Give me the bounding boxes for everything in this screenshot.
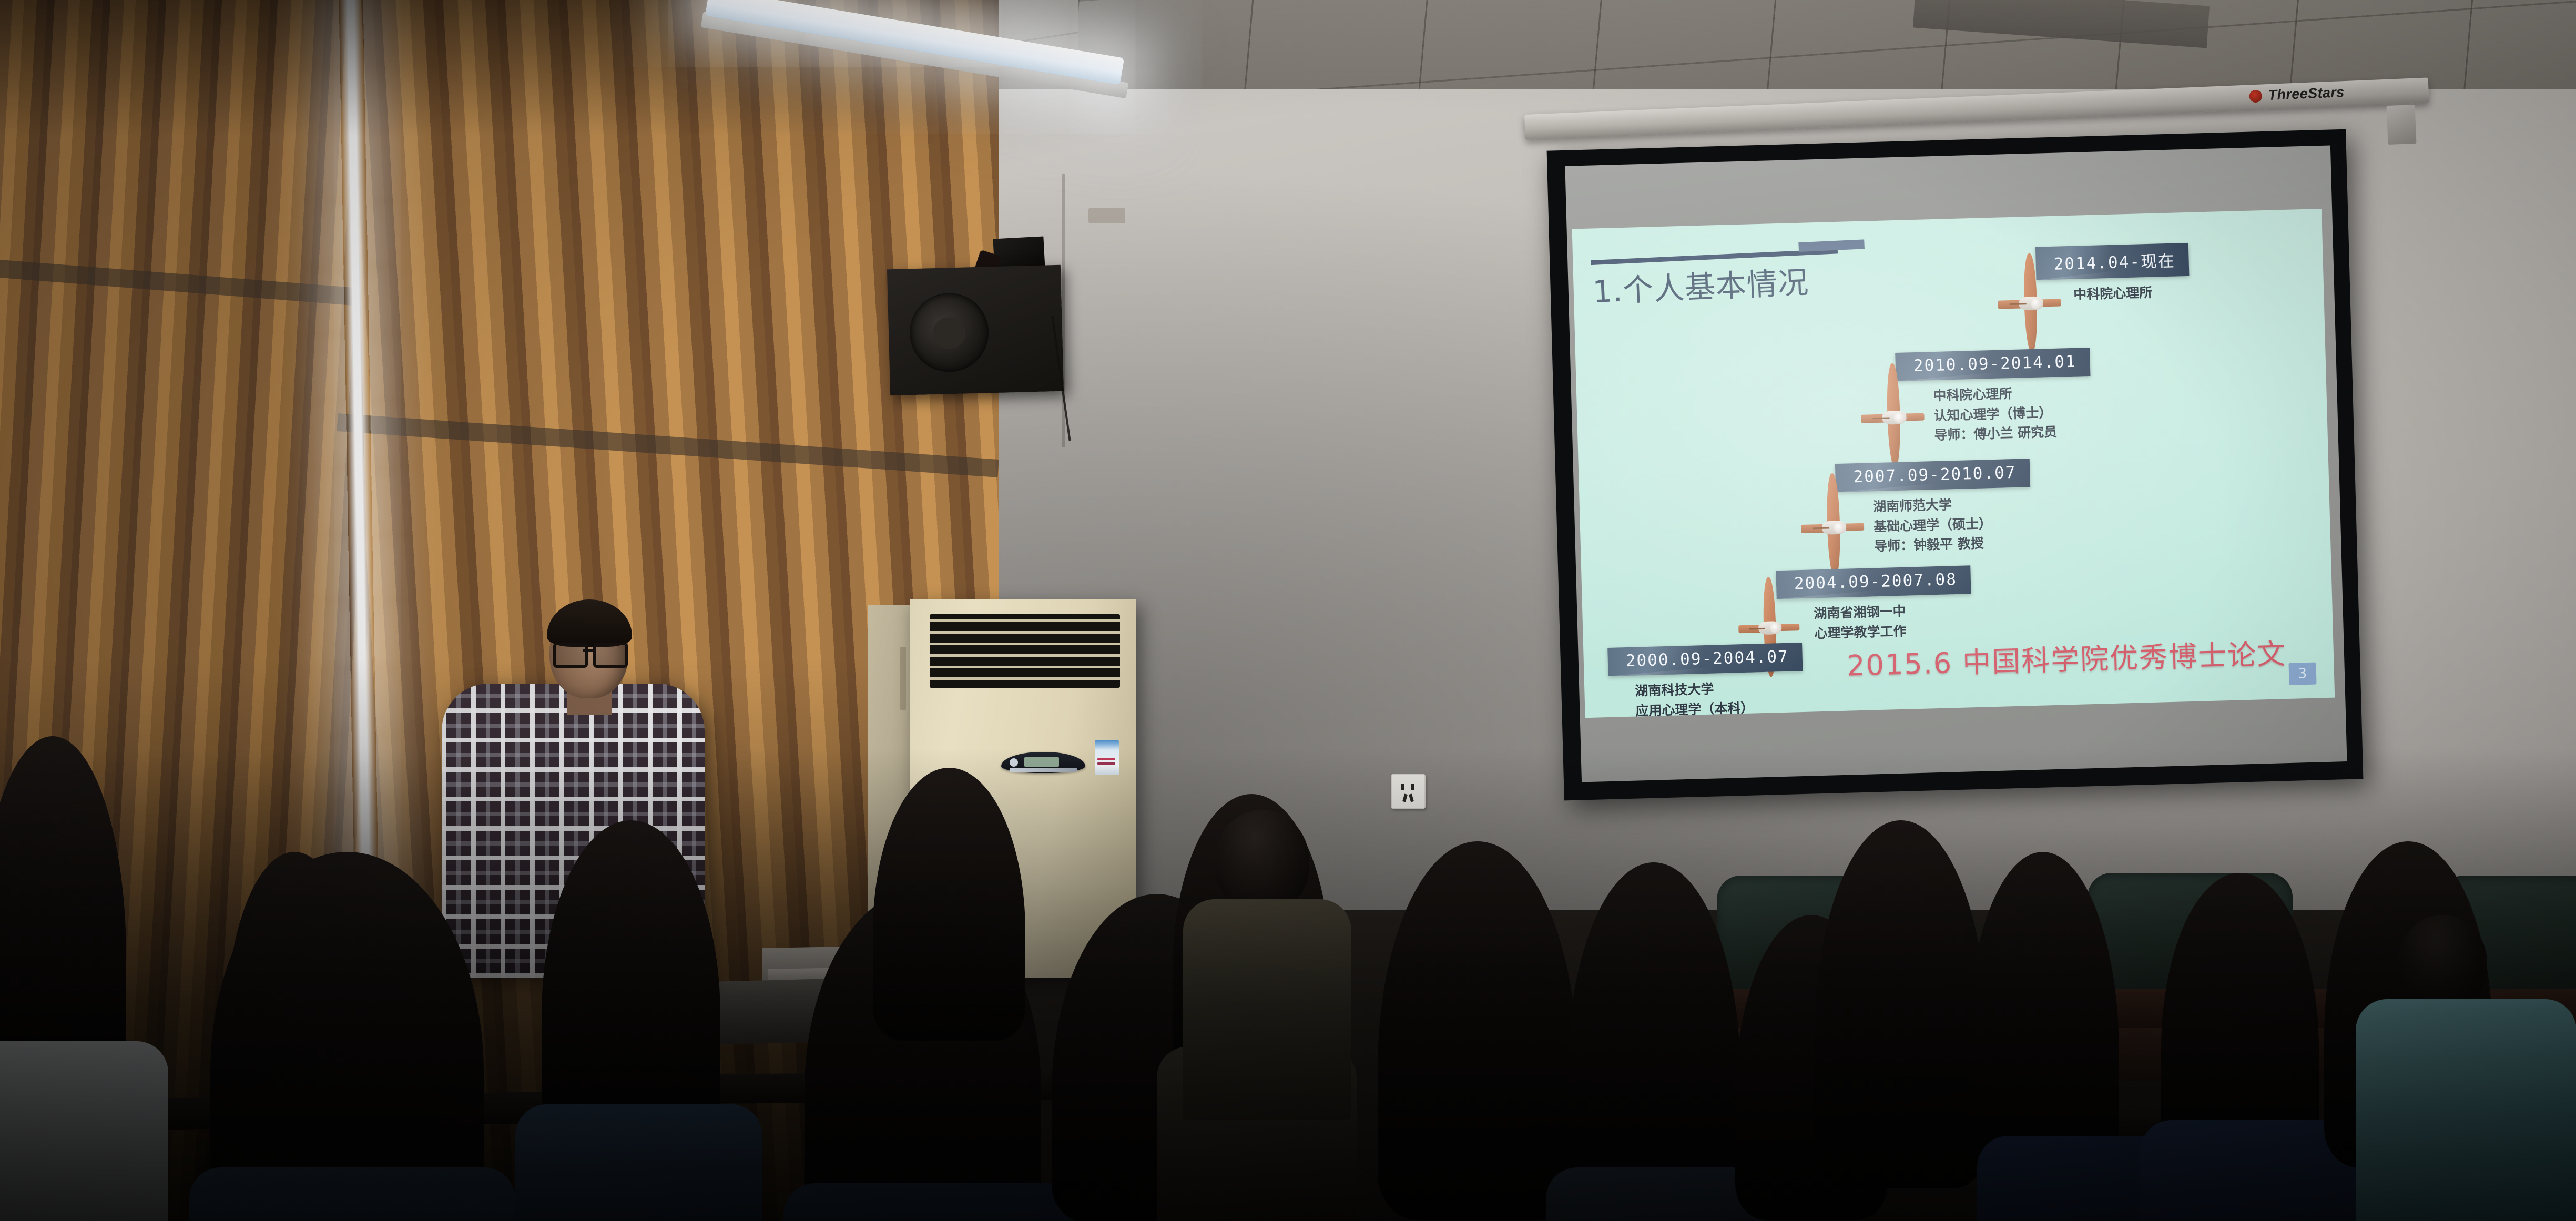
timeline-period: 2010.09-2014.01: [1895, 348, 2090, 381]
wall-socket-icon: [1391, 774, 1426, 809]
slide-page-number: 3: [2288, 663, 2316, 685]
audience-dark-top: [1546, 1167, 1767, 1221]
audience-olive-jacket: [1183, 899, 1351, 1120]
wall-patch: [1088, 208, 1125, 223]
projection-screen: 1.个人基本情况 2014.04-现在 中科院心理所: [1547, 129, 2364, 801]
timeline-period: 2004.09-2007.08: [1776, 565, 1971, 599]
audience-white-top: [0, 1041, 168, 1221]
audience-teal-top: [2356, 999, 2576, 1221]
timeline-entry: 2000.09-2004.07 湖南科技大学 应用心理学（本科）: [1607, 643, 1804, 718]
glasses-icon: [553, 643, 627, 664]
title-rule-accent: [1798, 239, 1865, 252]
timeline-entry: 2007.09-2010.07 湖南师范大学 基础心理学（硕士） 导师：钟毅平 …: [1835, 459, 2032, 557]
timeline-period: 2007.09-2010.07: [1835, 459, 2030, 492]
timeline-description: 湖南科技大学 应用心理学（本科）: [1635, 677, 1804, 718]
slide-title: 1.个人基本情况: [1592, 258, 1810, 311]
speaker-cone-icon: [909, 292, 990, 373]
airplane-icon: [1997, 252, 2062, 354]
ac-unit-side-slot: [900, 647, 906, 710]
timeline-description: 湖南省湘钢一中 心理学教学工作: [1814, 600, 1972, 643]
screen-brand-label: ThreeStars: [2249, 84, 2345, 104]
timeline-entry: 2010.09-2014.01 中科院心理所 认知心理学（博士） 导师：傅小兰 …: [1895, 348, 2092, 446]
timeline-description: 中科院心理所 认知心理学（博士） 导师：傅小兰 研究员: [1933, 382, 2092, 445]
lecture-hall-photo: ThreeStars 1.个人基本情况 2014.04-现在 中科院心理所: [0, 0, 2576, 1221]
screen-brand-text: ThreeStars: [2268, 84, 2345, 104]
screen-surface: 1.个人基本情况 2014.04-现在 中科院心理所: [1565, 145, 2347, 782]
timeline-entry: 2004.09-2007.08 湖南省湘钢一中 心理学教学工作: [1776, 565, 1972, 645]
wall-speaker: [887, 265, 1064, 396]
audience-denim-top: [515, 1104, 762, 1221]
brand-logo-icon: [2249, 89, 2262, 103]
airplane-icon: [1860, 363, 1926, 470]
timeline-description: 中科院心理所: [2073, 282, 2190, 304]
timeline-description: 湖南师范大学 基础心理学（硕士） 导师：钟毅平 教授: [1873, 493, 2032, 556]
ac-power-knob-icon[interactable]: [1010, 758, 1018, 767]
airplane-icon: [1799, 473, 1865, 579]
audience-denim-top: [783, 1183, 1078, 1221]
screen-housing-end-cap: [2387, 105, 2417, 145]
ac-button-strip[interactable]: [1010, 768, 1077, 772]
timeline-period: 2000.09-2004.07: [1607, 643, 1803, 676]
ac-display: [1024, 757, 1059, 767]
ac-control-panel[interactable]: [1001, 752, 1085, 773]
ac-energy-label: [1095, 740, 1119, 775]
audience-denim-top: [189, 1167, 515, 1221]
ac-vent-grille: [930, 614, 1120, 688]
presentation-slide: 1.个人基本情况 2014.04-现在 中科院心理所: [1572, 209, 2335, 718]
